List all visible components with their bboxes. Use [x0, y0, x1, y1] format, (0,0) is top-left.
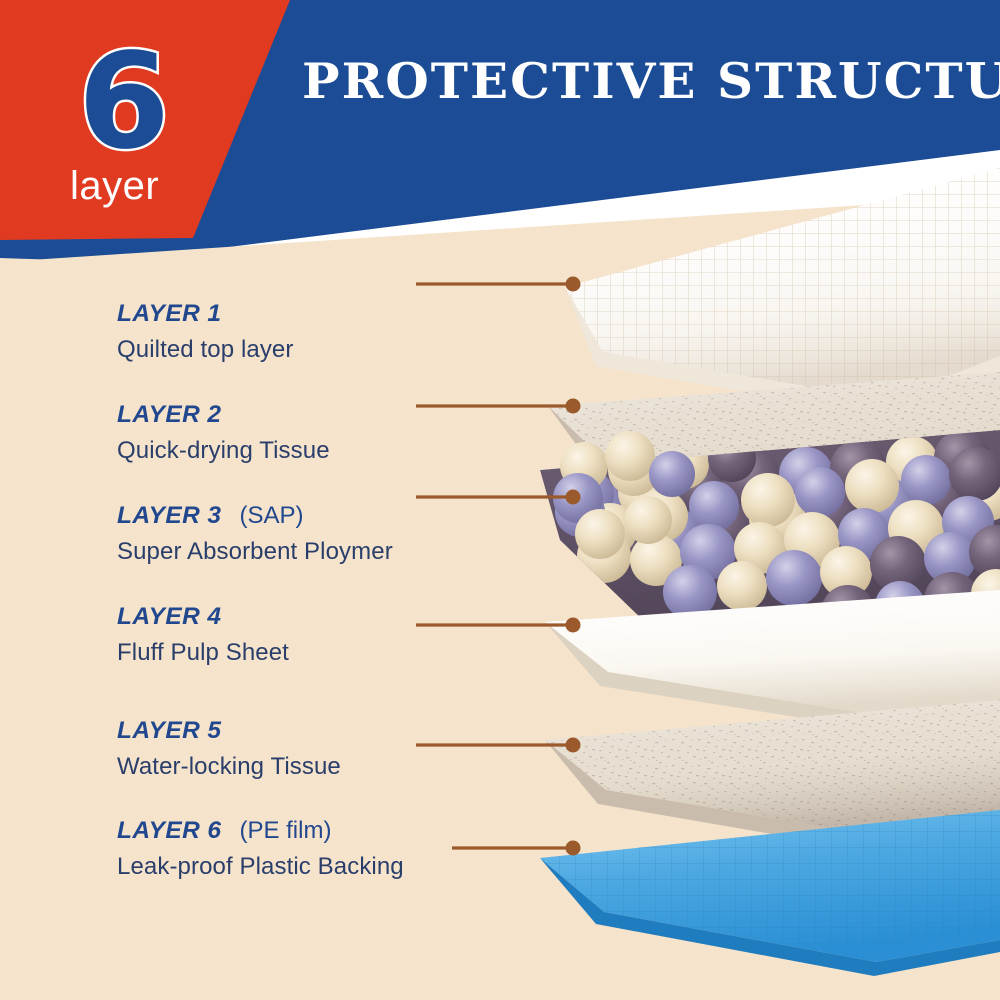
layer-label-5: LAYER 5 Water-locking Tissue	[117, 717, 341, 781]
layer-5-subtitle: Water-locking Tissue	[117, 753, 341, 781]
layer-2-subtitle: Quick-drying Tissue	[117, 437, 330, 465]
layer-2-title: LAYER 2	[117, 401, 330, 429]
layer-3-paren: (SAP)	[221, 502, 303, 529]
layer-6-title: LAYER 6(PE film)	[117, 817, 404, 845]
layer-label-2: LAYER 2 Quick-drying Tissue	[117, 401, 330, 465]
layer-label-4: LAYER 4 Fluff Pulp Sheet	[117, 603, 289, 667]
layer-label-list: LAYER 1 Quilted top layer LAYER 2 Quick-…	[0, 0, 1000, 1000]
layer-1-title: LAYER 1	[117, 300, 293, 328]
layer-1-subtitle: Quilted top layer	[117, 336, 293, 364]
layer-5-title: LAYER 5	[117, 717, 341, 745]
layer-label-6: LAYER 6(PE film) Leak-proof Plastic Back…	[117, 817, 404, 881]
infographic-root: 6 layer PROTECTIVE STRUCTURE	[0, 0, 1000, 1000]
layer-4-title: LAYER 4	[117, 603, 289, 631]
layer-label-1: LAYER 1 Quilted top layer	[117, 300, 293, 364]
layer-3-subtitle: Super Absorbent Ploymer	[117, 538, 393, 566]
layer-3-title: LAYER 3(SAP)	[117, 502, 393, 530]
layer-4-subtitle: Fluff Pulp Sheet	[117, 639, 289, 667]
layer-6-subtitle: Leak-proof Plastic Backing	[117, 853, 404, 881]
layer-label-3: LAYER 3(SAP) Super Absorbent Ploymer	[117, 502, 393, 566]
layer-6-paren: (PE film)	[221, 817, 331, 844]
